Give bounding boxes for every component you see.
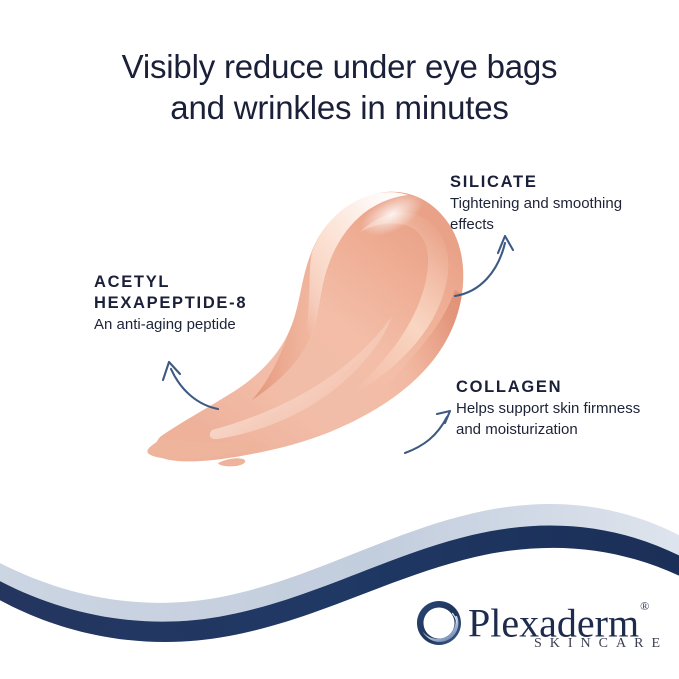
ingredient-desc-collagen-line1: Helps support skin firmness bbox=[456, 399, 640, 419]
page-title: Visibly reduce under eye bags and wrinkl… bbox=[0, 46, 679, 128]
serum-edge-left bbox=[252, 196, 368, 400]
serum-tail bbox=[147, 438, 268, 459]
arrow-collagen bbox=[405, 417, 447, 453]
ingredient-desc-collagen-line2: and moisturization bbox=[456, 420, 640, 440]
serum-highlight-sheen bbox=[342, 213, 448, 401]
serum-droplet bbox=[218, 458, 245, 466]
serum-edge-right bbox=[330, 290, 462, 432]
serum-highlight-rim bbox=[302, 192, 408, 357]
headline-line-1: Visibly reduce under eye bags bbox=[0, 46, 679, 87]
arrow-silicate bbox=[455, 243, 505, 296]
registered-trademark-icon: ® bbox=[640, 599, 649, 613]
ingredient-desc-acetyl-line1: An anti-aging peptide bbox=[94, 315, 247, 335]
arrow-collagen-head bbox=[437, 411, 450, 423]
callout-silicate: SILICATE Tightening and smoothing effect… bbox=[450, 172, 622, 234]
crescent-circle-icon bbox=[416, 600, 462, 646]
logo-tagline: SKINCARE bbox=[534, 636, 668, 652]
serum-top-glow bbox=[354, 183, 430, 245]
ingredient-name-collagen: COLLAGEN bbox=[456, 377, 640, 398]
plexaderm-logo: Plexaderm® SKINCARE bbox=[416, 596, 656, 658]
headline-line-2: and wrinkles in minutes bbox=[0, 87, 679, 128]
arrow-acetyl bbox=[171, 369, 218, 409]
ingredient-desc-silicate-line1: Tightening and smoothing bbox=[450, 194, 622, 214]
promo-image-canvas: Visibly reduce under eye bags and wrinkl… bbox=[0, 0, 679, 679]
arrow-silicate-head bbox=[498, 236, 513, 253]
ingredient-name-acetyl-line2: HEXAPEPTIDE-8 bbox=[94, 293, 247, 314]
ingredient-desc-silicate-line2: effects bbox=[450, 215, 622, 235]
ingredient-name-silicate: SILICATE bbox=[450, 172, 622, 193]
arrow-acetyl-head bbox=[163, 362, 180, 380]
ingredient-name-acetyl-line1: ACETYL bbox=[94, 272, 247, 293]
callout-acetyl-hexapeptide: ACETYL HEXAPEPTIDE-8 An anti-aging pepti… bbox=[94, 272, 247, 335]
callout-collagen: COLLAGEN Helps support skin firmness and… bbox=[456, 377, 640, 439]
